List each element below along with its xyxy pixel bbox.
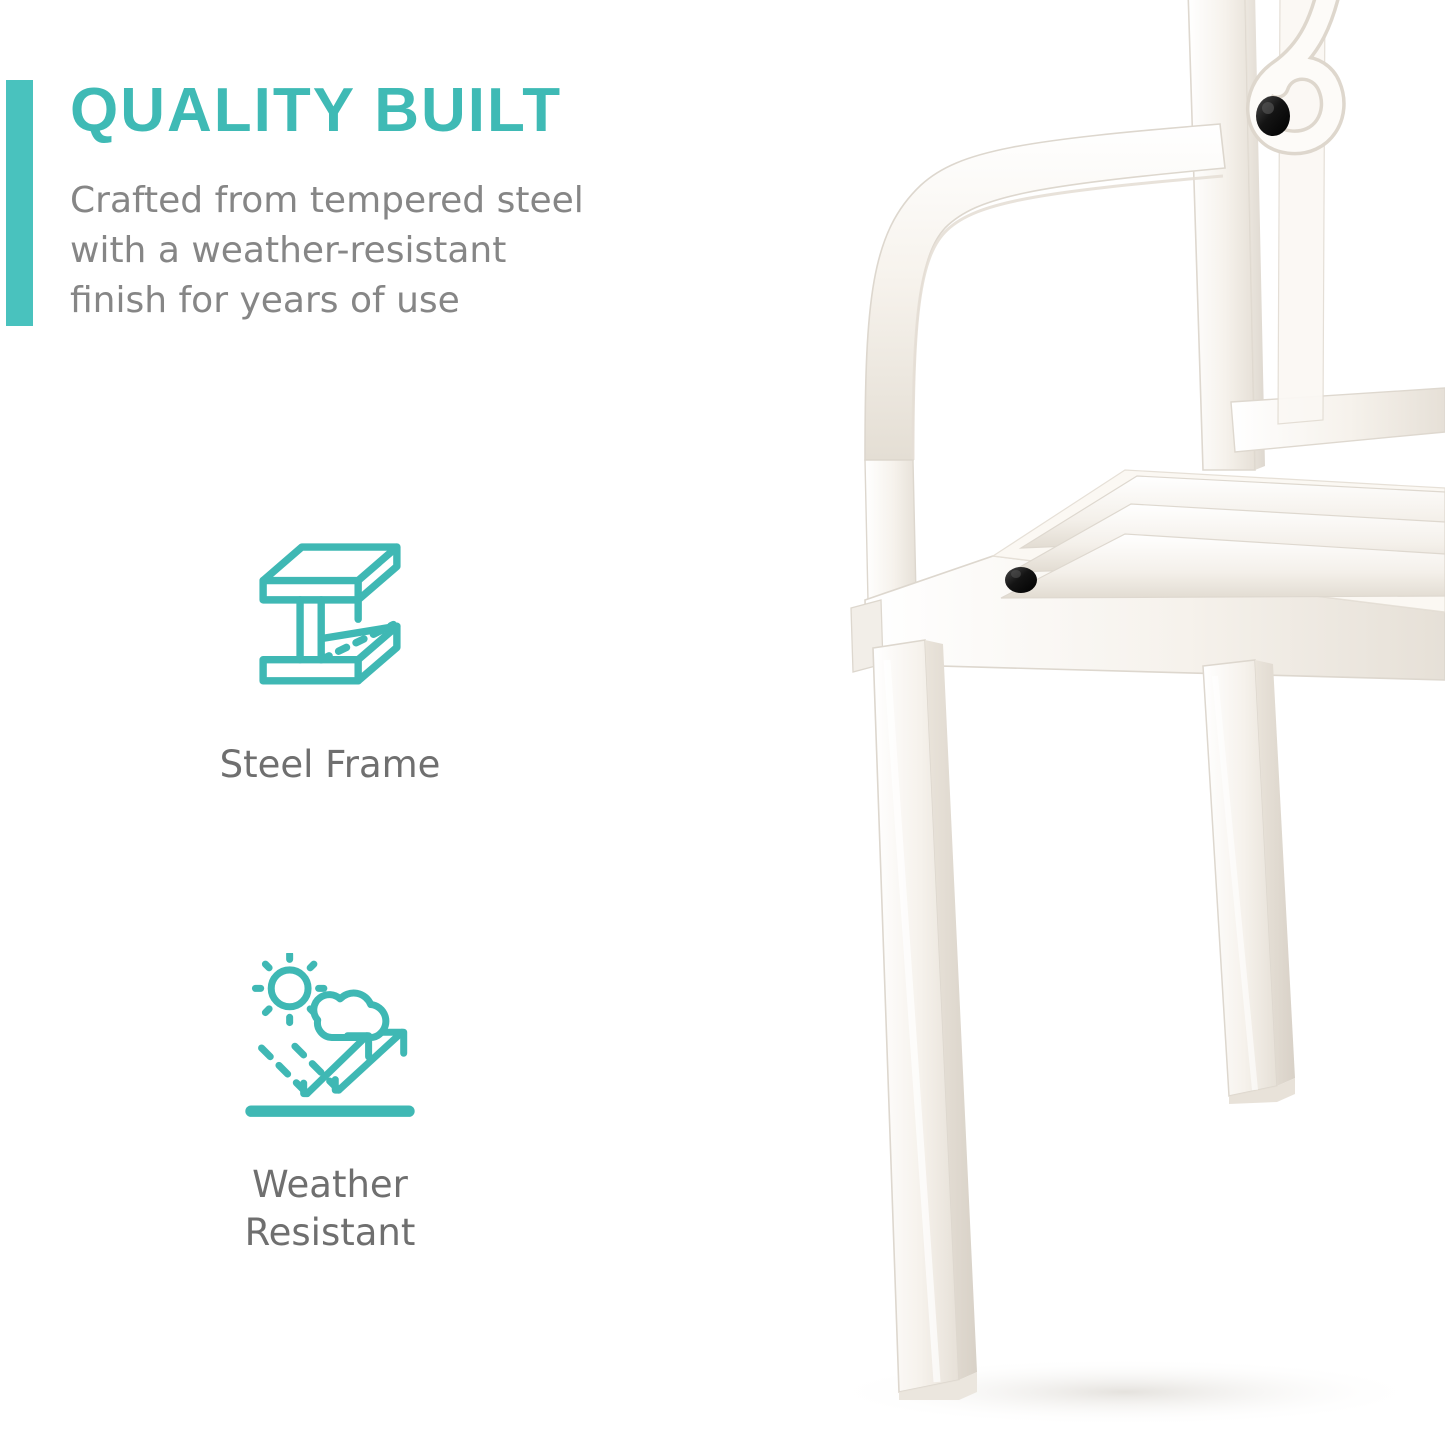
feature-label: Weather Resistant — [120, 1161, 540, 1257]
i-beam-icon — [120, 528, 540, 713]
armrest-inner-edge — [913, 176, 1223, 460]
backrest-post — [1188, 0, 1255, 470]
subcopy-line: finish for years of use — [70, 276, 584, 326]
teal-accent-bar — [6, 80, 33, 326]
armrest — [865, 124, 1225, 460]
bolt-cap — [1256, 96, 1290, 136]
subcopy-line: Crafted from tempered steel — [70, 176, 584, 226]
subcopy: Crafted from tempered steel with a weath… — [70, 176, 584, 326]
copy-block: QUALITY BUILT Crafted from tempered stee… — [0, 80, 720, 326]
product-photo — [825, 0, 1445, 1445]
feature-steel-frame: Steel Frame — [120, 528, 540, 789]
weather-resistant-icon — [120, 948, 540, 1133]
subcopy-line: with a weather-resistant — [70, 226, 584, 276]
bolt-cap — [1005, 567, 1037, 593]
bolt-cap-highlight — [1262, 102, 1274, 114]
bolt-cap-highlight — [1011, 570, 1021, 578]
page-title: QUALITY BUILT — [70, 80, 584, 142]
seat-slats — [1001, 476, 1445, 598]
promo-image: QUALITY BUILT Crafted from tempered stee… — [0, 0, 1445, 1445]
feature-label: Steel Frame — [120, 741, 540, 789]
feature-label-line: Steel Frame — [120, 741, 540, 789]
feature-weather-resistant: Weather Resistant — [120, 948, 540, 1257]
feature-label-line: Resistant — [120, 1209, 540, 1257]
feature-label-line: Weather — [120, 1161, 540, 1209]
copy-text: QUALITY BUILT Crafted from tempered stee… — [70, 80, 584, 326]
